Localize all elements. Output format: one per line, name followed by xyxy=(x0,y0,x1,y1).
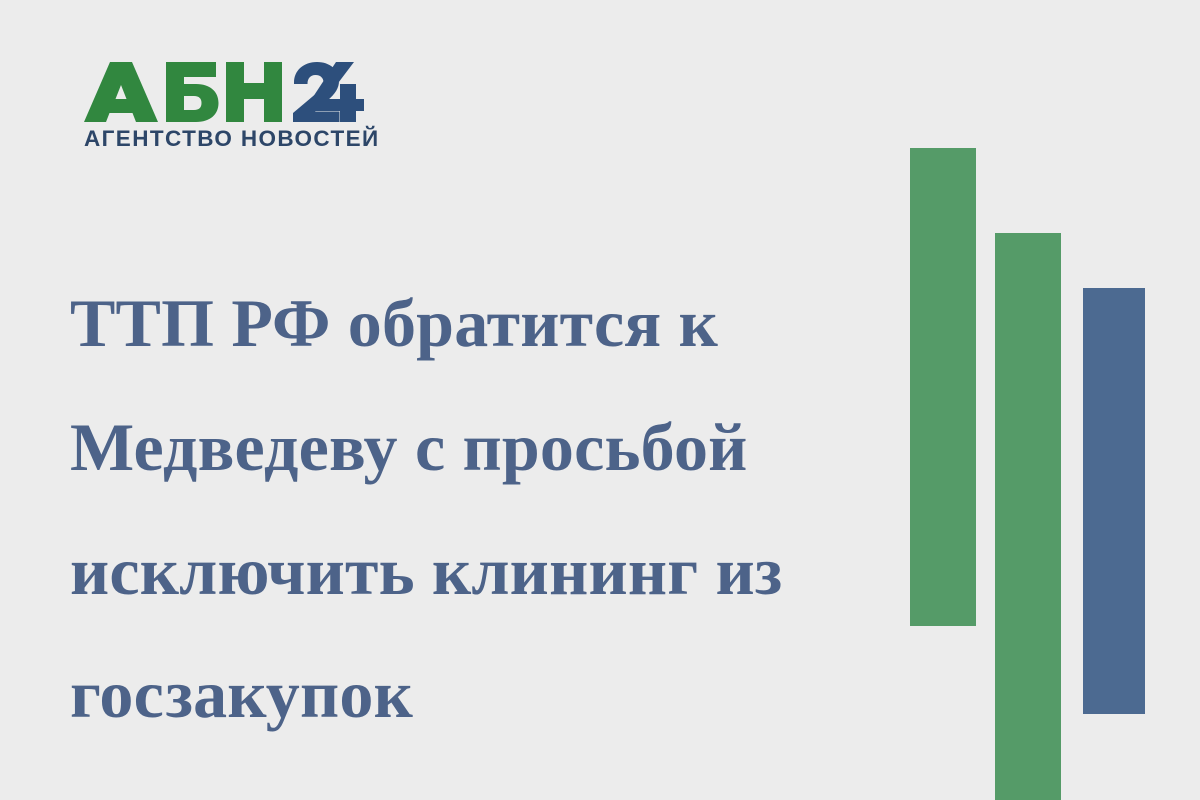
chart-bar-1 xyxy=(910,148,976,626)
chart-bar-3 xyxy=(1083,288,1145,714)
headline-line-3: исключить клининг из xyxy=(70,510,890,634)
logo-tagline: АГЕНТСТВО НОВОСТЕЙ xyxy=(84,128,374,151)
headline-line-4: госзакупок xyxy=(70,633,890,757)
headline-line-2: Медведеву с просьбой xyxy=(70,386,890,510)
headline-line-1: ТТП РФ обратится к xyxy=(70,262,890,386)
abn24-wordmark-icon xyxy=(84,62,364,122)
page-title: ТТП РФ обратится к Медведеву с просьбой … xyxy=(70,262,890,757)
logo-lockup[interactable]: АГЕНТСТВО НОВОСТЕЙ xyxy=(84,62,374,151)
chart-bar-2 xyxy=(995,233,1061,800)
news-card: АГЕНТСТВО НОВОСТЕЙ ТТП РФ обратится к Ме… xyxy=(0,0,1200,800)
